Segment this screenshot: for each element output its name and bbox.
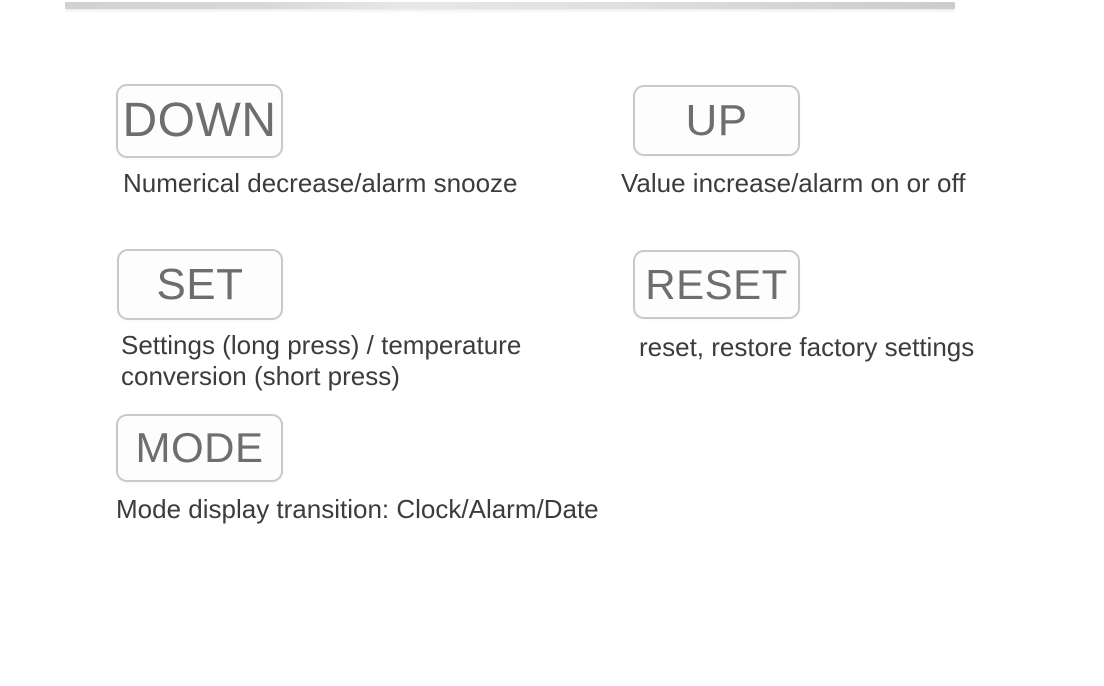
button-guide-page: DOWN Numerical decrease/alarm snooze UP … bbox=[0, 0, 1104, 686]
key-reset-button[interactable]: RESET bbox=[633, 250, 800, 319]
key-up-button[interactable]: UP bbox=[633, 85, 800, 156]
key-down-button[interactable]: DOWN bbox=[116, 84, 283, 158]
key-reset-description: reset, restore factory settings bbox=[639, 332, 974, 363]
key-set-button[interactable]: SET bbox=[117, 249, 283, 320]
key-up-description: Value increase/alarm on or off bbox=[621, 168, 965, 199]
key-mode-button[interactable]: MODE bbox=[116, 414, 283, 482]
top-divider-strip bbox=[65, 2, 955, 9]
top-divider-shadow bbox=[65, 9, 955, 13]
key-down-description: Numerical decrease/alarm snooze bbox=[123, 168, 518, 199]
key-set-description: Settings (long press) / temperature conv… bbox=[121, 330, 521, 392]
key-mode-description: Mode display transition: Clock/Alarm/Dat… bbox=[116, 494, 599, 525]
